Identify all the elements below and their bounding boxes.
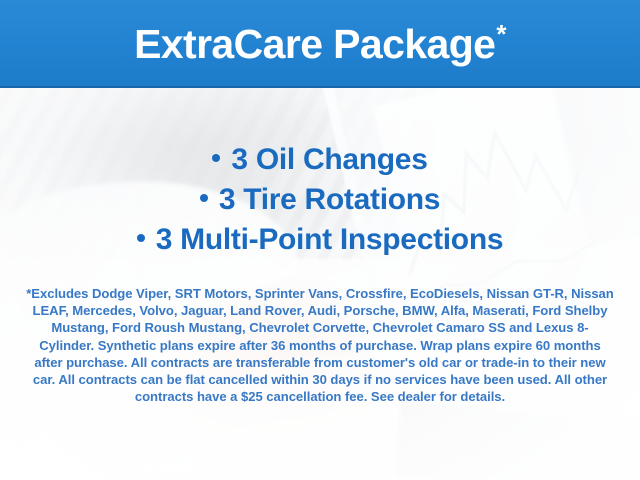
extracare-promo-card: ExtraCare Package* 3 Oil Changes 3 Tire … (0, 0, 640, 480)
bullet-dot-icon (212, 154, 220, 162)
page-title-text: ExtraCare Package (134, 21, 495, 67)
header-banner: ExtraCare Package* (0, 0, 640, 88)
page-title-asterisk: * (496, 19, 506, 49)
benefits-list: 3 Oil Changes 3 Tire Rotations 3 Multi-P… (0, 140, 640, 260)
benefit-item-label: 3 Multi-Point Inspections (156, 223, 504, 256)
bullet-dot-icon (200, 194, 208, 202)
benefit-item-label: 3 Oil Changes (231, 143, 427, 176)
benefit-item-label: 3 Tire Rotations (219, 183, 440, 216)
benefit-item-multi-point-inspections: 3 Multi-Point Inspections (0, 220, 640, 260)
benefit-item-oil-changes: 3 Oil Changes (0, 140, 640, 180)
benefit-item-tire-rotations: 3 Tire Rotations (0, 180, 640, 220)
disclaimer-text: *Excludes Dodge Viper, SRT Motors, Sprin… (24, 285, 616, 405)
bullet-dot-icon (137, 234, 145, 242)
page-title: ExtraCare Package* (134, 24, 506, 65)
